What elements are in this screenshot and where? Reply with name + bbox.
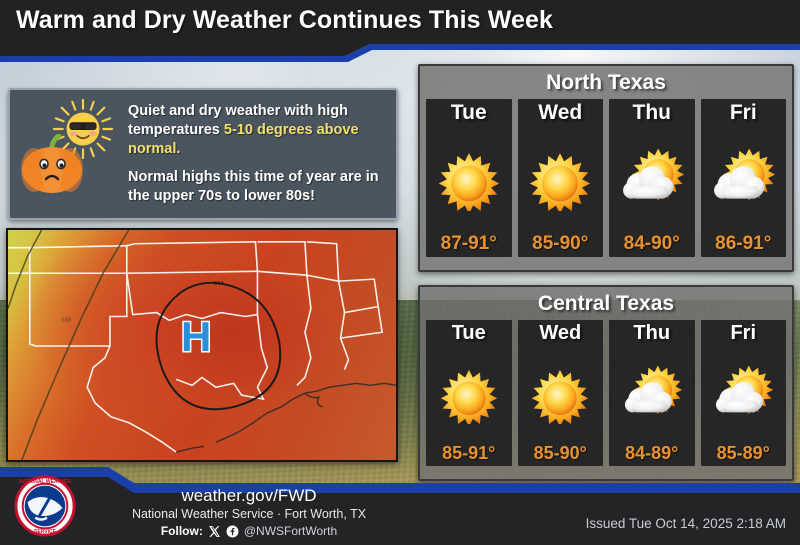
temperature-range: 84-90° <box>624 234 680 253</box>
issued-timestamp: Issued Tue Oct 14, 2025 2:18 AM <box>586 516 786 531</box>
office-name: National Weather Service · Fort Worth, T… <box>84 506 414 523</box>
forecast-day-column: Wed 85-90° <box>518 99 604 257</box>
partly-cloudy-icon <box>708 149 778 211</box>
svg-text:588: 588 <box>61 317 72 323</box>
day-label: Fri <box>730 322 756 345</box>
emoji-column <box>10 90 128 218</box>
day-columns-central: Tue 85-91° Wed <box>426 320 786 466</box>
day-label: Thu <box>633 322 670 345</box>
day-label: Fri <box>730 101 757 125</box>
day-label: Tue <box>451 101 487 125</box>
svg-text:SERVICE: SERVICE <box>34 529 57 535</box>
sunny-icon <box>525 149 595 211</box>
day-label: Thu <box>633 101 671 125</box>
forecast-day-column: Fri <box>701 99 787 257</box>
sunny-icon <box>434 149 504 211</box>
forecast-day-column: Thu <box>609 320 695 466</box>
icon-slot <box>518 345 604 444</box>
forecast-day-column: Wed 85-90° <box>518 320 604 466</box>
sunny-icon <box>527 366 593 424</box>
footer-credits: weather.gov/FWD National Weather Service… <box>84 485 414 538</box>
forecast-panel-north-texas: North Texas Tue <box>418 64 794 272</box>
icon-slot <box>518 125 604 234</box>
region-title-north: North Texas <box>426 72 786 94</box>
temperature-range: 87-91° <box>441 234 497 253</box>
social-handle[interactable]: @NWSFortWorth <box>244 524 337 538</box>
high-pressure-symbol: H <box>181 316 211 358</box>
temperature-range: 86-91° <box>715 234 771 253</box>
icon-slot <box>609 345 695 444</box>
summary-line-1: Quiet and dry weather with high temperat… <box>128 102 386 159</box>
icon-slot <box>609 125 695 234</box>
forecast-day-column: Tue 87-9 <box>426 99 512 257</box>
social-row: Follow: @NWSFortWorth <box>84 524 414 538</box>
icon-slot <box>426 345 512 444</box>
day-label: Wed <box>538 101 582 125</box>
temperature-range: 85-90° <box>532 234 588 253</box>
partly-cloudy-icon <box>617 149 687 211</box>
day-columns-north: Tue 87-9 <box>426 99 786 257</box>
nws-logo: NATIONAL WEATHER SERVICE <box>14 475 76 537</box>
forecast-day-column: Thu <box>609 99 695 257</box>
office-url[interactable]: weather.gov/FWD <box>84 485 414 506</box>
svg-text:594: 594 <box>214 281 225 287</box>
forecast-day-column: Fri <box>701 320 787 466</box>
temperature-range: 85-90° <box>534 444 587 462</box>
svg-text:NATIONAL WEATHER: NATIONAL WEATHER <box>19 479 71 485</box>
facebook-icon[interactable] <box>226 525 239 538</box>
weather-graphic: Warm and Dry Weather Continues This Week <box>0 0 800 545</box>
page-title: Warm and Dry Weather Continues This Week <box>16 6 553 35</box>
day-label: Wed <box>539 322 581 345</box>
temperature-range: 84-89° <box>625 444 678 462</box>
icon-slot <box>701 345 787 444</box>
temperature-range: 85-91° <box>442 444 495 462</box>
temperature-range: 85-89° <box>717 444 770 462</box>
partly-cloudy-icon <box>710 366 776 424</box>
sad-pumpkin-emoji <box>18 134 86 196</box>
follow-label: Follow: <box>161 524 203 538</box>
summary-text: Quiet and dry weather with high temperat… <box>128 102 396 206</box>
icon-slot <box>701 125 787 234</box>
region-title-central: Central Texas <box>426 293 786 315</box>
summary-line-2: Normal highs this time of year are in th… <box>128 168 386 206</box>
forecast-panel-central-texas: Central Texas Tue 85-91° Wed <box>418 285 794 481</box>
forecast-day-column: Tue 85-91° <box>426 320 512 466</box>
partly-cloudy-icon <box>619 366 685 424</box>
day-label: Tue <box>452 322 486 345</box>
summary-panel: Quiet and dry weather with high temperat… <box>8 88 398 220</box>
x-twitter-icon[interactable] <box>208 525 221 538</box>
icon-slot <box>426 125 512 234</box>
sunny-icon <box>436 366 502 424</box>
